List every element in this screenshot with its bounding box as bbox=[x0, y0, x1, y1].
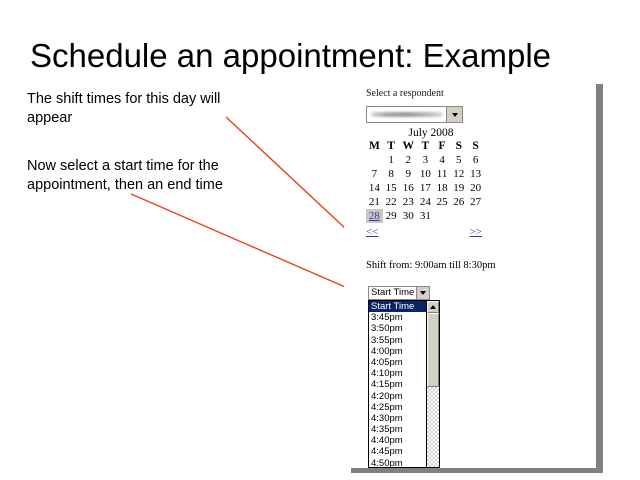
calendar-day-cell[interactable]: 9 bbox=[399, 167, 417, 181]
calendar-day-cell[interactable]: 5 bbox=[450, 153, 467, 167]
list-item[interactable]: 4:45pm bbox=[369, 446, 426, 457]
calendar-day-cell[interactable]: 19 bbox=[450, 181, 467, 195]
calendar-day-cell[interactable] bbox=[467, 209, 484, 223]
scrollbar-track[interactable] bbox=[427, 387, 439, 467]
annotation-note-select-start-time: Now select a start time for the appointm… bbox=[27, 157, 262, 195]
calendar-day-cell[interactable]: 15 bbox=[383, 181, 400, 195]
list-item[interactable]: 4:50pm bbox=[369, 458, 426, 467]
list-item[interactable]: 4:00pm bbox=[369, 346, 426, 357]
calendar-weekday-header: T bbox=[417, 140, 434, 153]
list-item[interactable]: 4:40pm bbox=[369, 435, 426, 446]
calendar-week-row: 28 29 30 31 bbox=[366, 209, 484, 223]
calendar-weekday-header: T bbox=[383, 140, 400, 153]
respondent-selected-value bbox=[367, 107, 446, 122]
page-title: Schedule an appointment: Example bbox=[30, 36, 610, 76]
start-time-selected-value: Start Time bbox=[369, 287, 416, 299]
calendar-day-cell[interactable]: 4 bbox=[434, 153, 451, 167]
calendar-week-row: 14 15 16 17 18 19 20 bbox=[366, 181, 484, 195]
shift-hours-text: Shift from: 9:00am till 8:30pm bbox=[366, 260, 496, 271]
calendar-day-cell-selected[interactable]: 28 bbox=[366, 209, 383, 223]
start-time-select[interactable]: Start Time bbox=[368, 286, 430, 300]
calendar-day-cell[interactable]: 24 bbox=[417, 195, 434, 209]
respondent-select[interactable] bbox=[366, 106, 463, 123]
list-item[interactable]: 4:15pm bbox=[369, 379, 426, 390]
calendar-prev-month-link[interactable]: << bbox=[366, 226, 378, 238]
calendar-day-cell[interactable]: 1 bbox=[383, 153, 400, 167]
calendar-day-cell[interactable]: 25 bbox=[434, 195, 451, 209]
scrollbar-thumb[interactable] bbox=[427, 313, 439, 387]
calendar-day-cell[interactable]: 14 bbox=[366, 181, 383, 195]
calendar-weekday-row: M T W T F S S bbox=[366, 140, 484, 153]
calendar-day-cell[interactable] bbox=[434, 209, 451, 223]
start-time-dropdown-list[interactable]: Start Time 3:45pm 3:50pm 3:55pm 4:00pm 4… bbox=[368, 300, 440, 468]
list-item[interactable]: 3:55pm bbox=[369, 335, 426, 346]
annotation-note-shift-times: The shift times for this day will appear bbox=[27, 90, 257, 128]
calendar-day-cell[interactable]: 21 bbox=[366, 195, 383, 209]
list-item[interactable]: Start Time bbox=[369, 301, 426, 312]
list-item[interactable]: 4:05pm bbox=[369, 357, 426, 368]
chevron-down-glyph bbox=[420, 291, 426, 295]
dropdown-scrollbar[interactable] bbox=[426, 301, 439, 467]
calendar-day-cell[interactable]: 16 bbox=[399, 181, 417, 195]
calendar-day-cell[interactable]: 6 bbox=[467, 153, 484, 167]
calendar-day-cell[interactable]: 10 bbox=[417, 167, 434, 181]
list-item[interactable]: 4:30pm bbox=[369, 413, 426, 424]
calendar-grid: M T W T F S S 1 2 3 4 5 6 bbox=[366, 140, 484, 223]
list-item[interactable]: 3:50pm bbox=[369, 323, 426, 334]
chevron-down-icon[interactable] bbox=[416, 287, 429, 299]
list-item[interactable]: 4:10pm bbox=[369, 368, 426, 379]
calendar-month-title: July 2008 bbox=[364, 127, 490, 140]
calendar-day-cell[interactable] bbox=[366, 153, 383, 167]
embedded-app-screenshot: Select a respondent July 2008 M T W T F … bbox=[344, 84, 596, 468]
calendar-week-row: 21 22 23 24 25 26 27 bbox=[366, 195, 484, 209]
list-item[interactable]: 4:20pm bbox=[369, 391, 426, 402]
calendar-day-cell[interactable]: 3 bbox=[417, 153, 434, 167]
calendar-next-month-link[interactable]: >> bbox=[470, 226, 482, 238]
list-item[interactable]: 3:45pm bbox=[369, 312, 426, 323]
chevron-down-glyph bbox=[452, 113, 458, 117]
screenshot-shadow-right bbox=[596, 84, 603, 473]
list-item[interactable]: 4:35pm bbox=[369, 424, 426, 435]
calendar-day-cell[interactable]: 18 bbox=[434, 181, 451, 195]
calendar-day-cell[interactable]: 31 bbox=[417, 209, 434, 223]
calendar-weekday-header: S bbox=[450, 140, 467, 153]
calendar-weekday-header: S bbox=[467, 140, 484, 153]
list-item[interactable]: 4:25pm bbox=[369, 402, 426, 413]
calendar-weekday-header: M bbox=[366, 140, 383, 153]
calendar-week-row: 7 8 9 10 11 12 13 bbox=[366, 167, 484, 181]
calendar-day-cell[interactable]: 17 bbox=[417, 181, 434, 195]
calendar-day-cell[interactable]: 30 bbox=[399, 209, 417, 223]
chevron-up-icon[interactable] bbox=[427, 301, 439, 313]
calendar-day-cell[interactable]: 27 bbox=[467, 195, 484, 209]
calendar-day-cell[interactable]: 8 bbox=[383, 167, 400, 181]
calendar-day-cell[interactable]: 22 bbox=[383, 195, 400, 209]
calendar-day-cell[interactable]: 29 bbox=[383, 209, 400, 223]
calendar-nav: << >> bbox=[366, 226, 484, 240]
calendar-weekday-header: W bbox=[399, 140, 417, 153]
calendar-widget[interactable]: July 2008 M T W T F S S 1 2 3 bbox=[364, 127, 490, 240]
calendar-week-row: 1 2 3 4 5 6 bbox=[366, 153, 484, 167]
calendar-day-cell[interactable] bbox=[450, 209, 467, 223]
calendar-day-cell[interactable]: 23 bbox=[399, 195, 417, 209]
calendar-day-cell[interactable]: 13 bbox=[467, 167, 484, 181]
calendar-day-cell[interactable]: 2 bbox=[399, 153, 417, 167]
arrow-to-start-time bbox=[131, 194, 359, 293]
start-time-option-list[interactable]: Start Time 3:45pm 3:50pm 3:55pm 4:00pm 4… bbox=[369, 301, 426, 467]
calendar-day-cell[interactable]: 26 bbox=[450, 195, 467, 209]
calendar-day-cell[interactable]: 20 bbox=[467, 181, 484, 195]
calendar-day-cell[interactable]: 12 bbox=[450, 167, 467, 181]
calendar-day-cell[interactable]: 11 bbox=[434, 167, 451, 181]
chevron-down-icon[interactable] bbox=[446, 107, 462, 122]
respondent-label: Select a respondent bbox=[366, 88, 444, 99]
calendar-weekday-header: F bbox=[434, 140, 451, 153]
chevron-up-glyph bbox=[430, 305, 436, 309]
calendar-day-cell[interactable]: 7 bbox=[366, 167, 383, 181]
